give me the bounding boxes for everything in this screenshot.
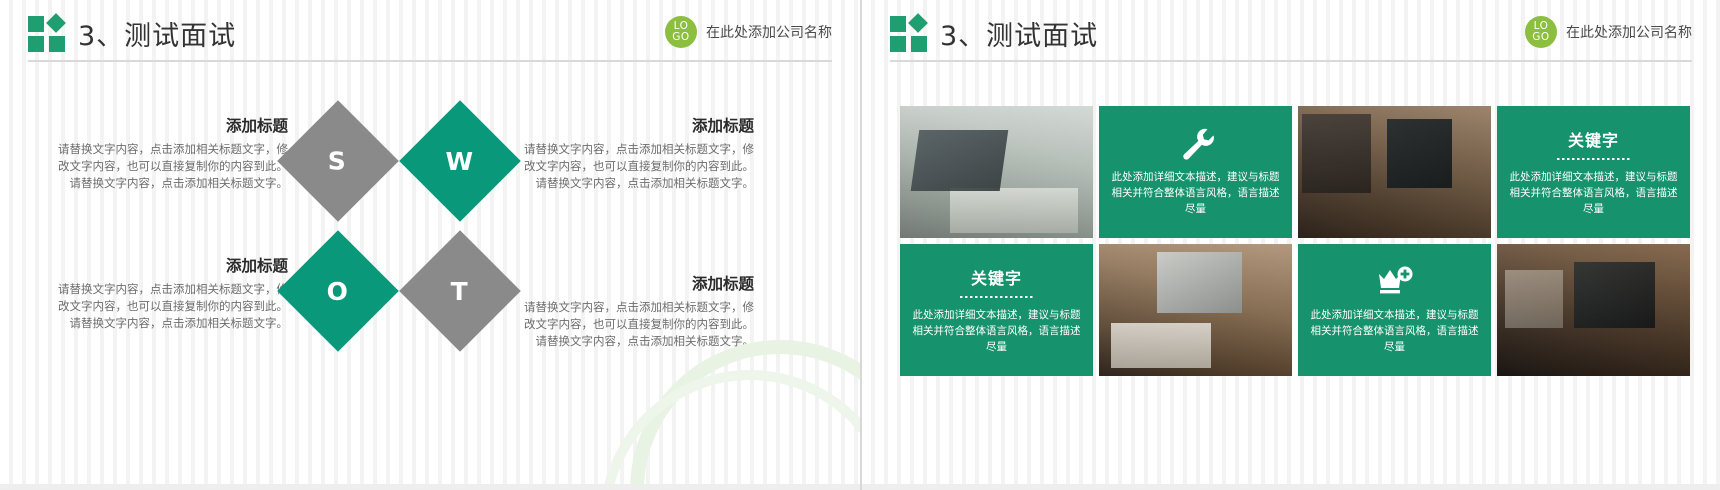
slide-header: 3、测试面试 LO GO 在此处添加公司名称 (862, 0, 1720, 68)
brand-squares-icon (28, 16, 70, 54)
swot-diamond-w[interactable]: W (399, 100, 521, 222)
swot-text-body: 请替换文字内容，点击添加相关标题文字，修改文字内容，也可以直接复制你的内容到此。… (56, 281, 288, 332)
grid-card-keyword-top[interactable]: 关键字 此处添加详细文本描述，建议与标题相关并符合整体语言风格，语言描述尽量 (1497, 106, 1690, 238)
brand-squares-icon (890, 16, 932, 54)
dotted-divider (960, 296, 1034, 298)
swot-text-opportunities: 添加标题 请替换文字内容，点击添加相关标题文字，修改文字内容，也可以直接复制你的… (56, 254, 288, 332)
slide-bottom-bar (862, 484, 1720, 490)
dual-slide-canvas: 3、测试面试 LO GO 在此处添加公司名称 添加标题 请替换文字内容，点击添加… (0, 0, 1720, 490)
swot-diamond-letter: O (327, 276, 349, 305)
grid-card-wrench[interactable]: 此处添加详细文本描述，建议与标题相关并符合整体语言风格，语言描述尽量 (1099, 106, 1292, 238)
content-grid: 此处添加详细文本描述，建议与标题相关并符合整体语言风格，语言描述尽量 关键字 此… (900, 106, 1690, 376)
grid-card-body: 此处添加详细文本描述，建议与标题相关并符合整体语言风格，语言描述尽量 (912, 307, 1081, 355)
swot-diamond-s[interactable]: S (277, 100, 399, 222)
swot-text-threats: 添加标题 请替换文字内容，点击添加相关标题文字，修改文字内容，也可以直接复制你的… (522, 272, 754, 350)
swot-diamond-letter: W (446, 146, 475, 175)
grid-photo-office-desk-team[interactable] (1497, 244, 1690, 376)
swot-diamond-letter: T (451, 277, 469, 306)
swot-text-title: 添加标题 (56, 254, 288, 276)
swot-text-title: 添加标题 (56, 114, 288, 136)
header-divider (28, 60, 832, 62)
slide-photo-grid: 3、测试面试 LO GO 在此处添加公司名称 (860, 0, 1720, 490)
swot-diamond-o[interactable]: O (277, 230, 399, 352)
swot-text-title: 添加标题 (522, 272, 754, 294)
grid-photo-hands-notebook-laptop[interactable] (1099, 244, 1292, 376)
header-branding: LO GO 在此处添加公司名称 (665, 16, 832, 48)
swot-diamond-letter: S (328, 146, 347, 175)
page-title: 3、测试面试 (78, 14, 236, 53)
swot-text-title: 添加标题 (522, 114, 754, 136)
grid-card-keyword-bottom[interactable]: 关键字 此处添加详细文本描述，建议与标题相关并符合整体语言风格，语言描述尽量 (900, 244, 1093, 376)
swot-diamonds: S W O T (285, 96, 515, 386)
grid-card-body: 此处添加详细文本描述，建议与标题相关并符合整体语言风格，语言描述尽量 (1509, 169, 1678, 217)
dotted-divider (1557, 158, 1631, 160)
header-divider (890, 60, 1692, 62)
swot-diamond-t[interactable]: T (399, 230, 521, 352)
grid-card-crown-plus[interactable]: 此处添加详细文本描述，建议与标题相关并符合整体语言风格，语言描述尽量 (1298, 244, 1491, 376)
grid-photo-cafe-team-discussion[interactable] (1298, 106, 1491, 238)
logo-badge: LO GO (1525, 16, 1557, 48)
crown-plus-icon (1375, 265, 1415, 299)
swot-text-weaknesses: 添加标题 请替换文字内容，点击添加相关标题文字，修改文字内容，也可以直接复制你的… (522, 114, 754, 192)
slide-swot: 3、测试面试 LO GO 在此处添加公司名称 添加标题 请替换文字内容，点击添加… (0, 0, 860, 490)
grid-card-title: 关键字 (1568, 127, 1619, 151)
page-title: 3、测试面试 (940, 14, 1098, 53)
company-name: 在此处添加公司名称 (1566, 22, 1692, 42)
grid-card-body: 此处添加详细文本描述，建议与标题相关并符合整体语言风格，语言描述尽量 (1111, 169, 1280, 217)
swot-text-body: 请替换文字内容，点击添加相关标题文字，修改文字内容，也可以直接复制你的内容到此。… (56, 141, 288, 192)
logo-badge: LO GO (665, 16, 697, 48)
swot-text-strengths: 添加标题 请替换文字内容，点击添加相关标题文字，修改文字内容，也可以直接复制你的… (56, 114, 288, 192)
grid-card-title: 关键字 (971, 265, 1022, 289)
wrench-icon (1176, 127, 1216, 161)
logo-line-2: GO (1532, 32, 1549, 43)
slide-bottom-bar (0, 484, 860, 490)
company-name: 在此处添加公司名称 (706, 22, 832, 42)
grid-photo-meeting-laptops-notes[interactable] (900, 106, 1093, 238)
slide-header: 3、测试面试 LO GO 在此处添加公司名称 (0, 0, 860, 68)
swot-text-body: 请替换文字内容，点击添加相关标题文字，修改文字内容，也可以直接复制你的内容到此。… (522, 299, 754, 350)
swot-text-body: 请替换文字内容，点击添加相关标题文字，修改文字内容，也可以直接复制你的内容到此。… (522, 141, 754, 192)
logo-line-2: GO (672, 32, 689, 43)
grid-card-body: 此处添加详细文本描述，建议与标题相关并符合整体语言风格，语言描述尽量 (1310, 307, 1479, 355)
header-branding: LO GO 在此处添加公司名称 (1525, 16, 1692, 48)
